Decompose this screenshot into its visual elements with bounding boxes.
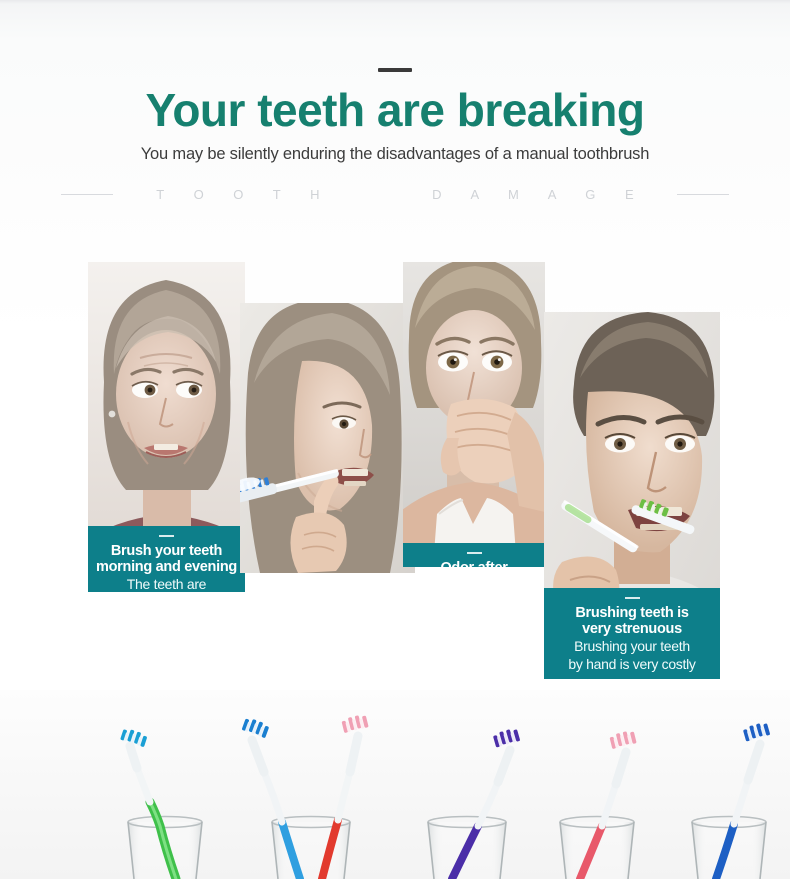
caption-dash-1: [159, 535, 174, 537]
caption-panel-4: Brushing teeth is very strenuous Brushin…: [544, 588, 720, 679]
caption-title-4-line2: very strenuous: [582, 621, 682, 637]
photo-woman-with-toothbrush: [240, 303, 415, 573]
caption-dash-3: [467, 552, 482, 554]
collage-panel-2: Brush your teeth often Always bleeding g…: [240, 303, 415, 573]
caption-title-1-line2: morning and evening: [96, 559, 237, 575]
caption-sub-4-line2: by hand is very costly: [568, 657, 695, 673]
caption-dash-4: [625, 597, 640, 599]
footer-toothbrush-glasses-photo: [0, 690, 790, 879]
product-detail-page: Your teeth are breaking You may be silen…: [0, 0, 790, 879]
caption-sub-4-line1: Brushing your teeth: [574, 639, 690, 655]
photo-woman-covering-mouth: [403, 262, 545, 567]
caption-title-4-line1: Brushing teeth is: [575, 605, 688, 621]
caption-title-1-line1: Brush your teeth: [111, 543, 222, 559]
collage-panel-3: Odor after brushing your teeth Brush you…: [403, 262, 545, 567]
caption-panel-3: Odor after brushing your teeth Brush you…: [403, 543, 545, 567]
caption-panel-1: Brush your teeth morning and evening The…: [88, 526, 245, 592]
collage-panel-1: Brush your teeth morning and evening The…: [88, 262, 245, 592]
caption-sub-1-line1: The teeth are: [127, 577, 206, 592]
collage-panel-4: Brushing teeth is very strenuous Brushin…: [544, 312, 720, 679]
caption-title-3-line1: Odor after brushing: [409, 560, 539, 567]
